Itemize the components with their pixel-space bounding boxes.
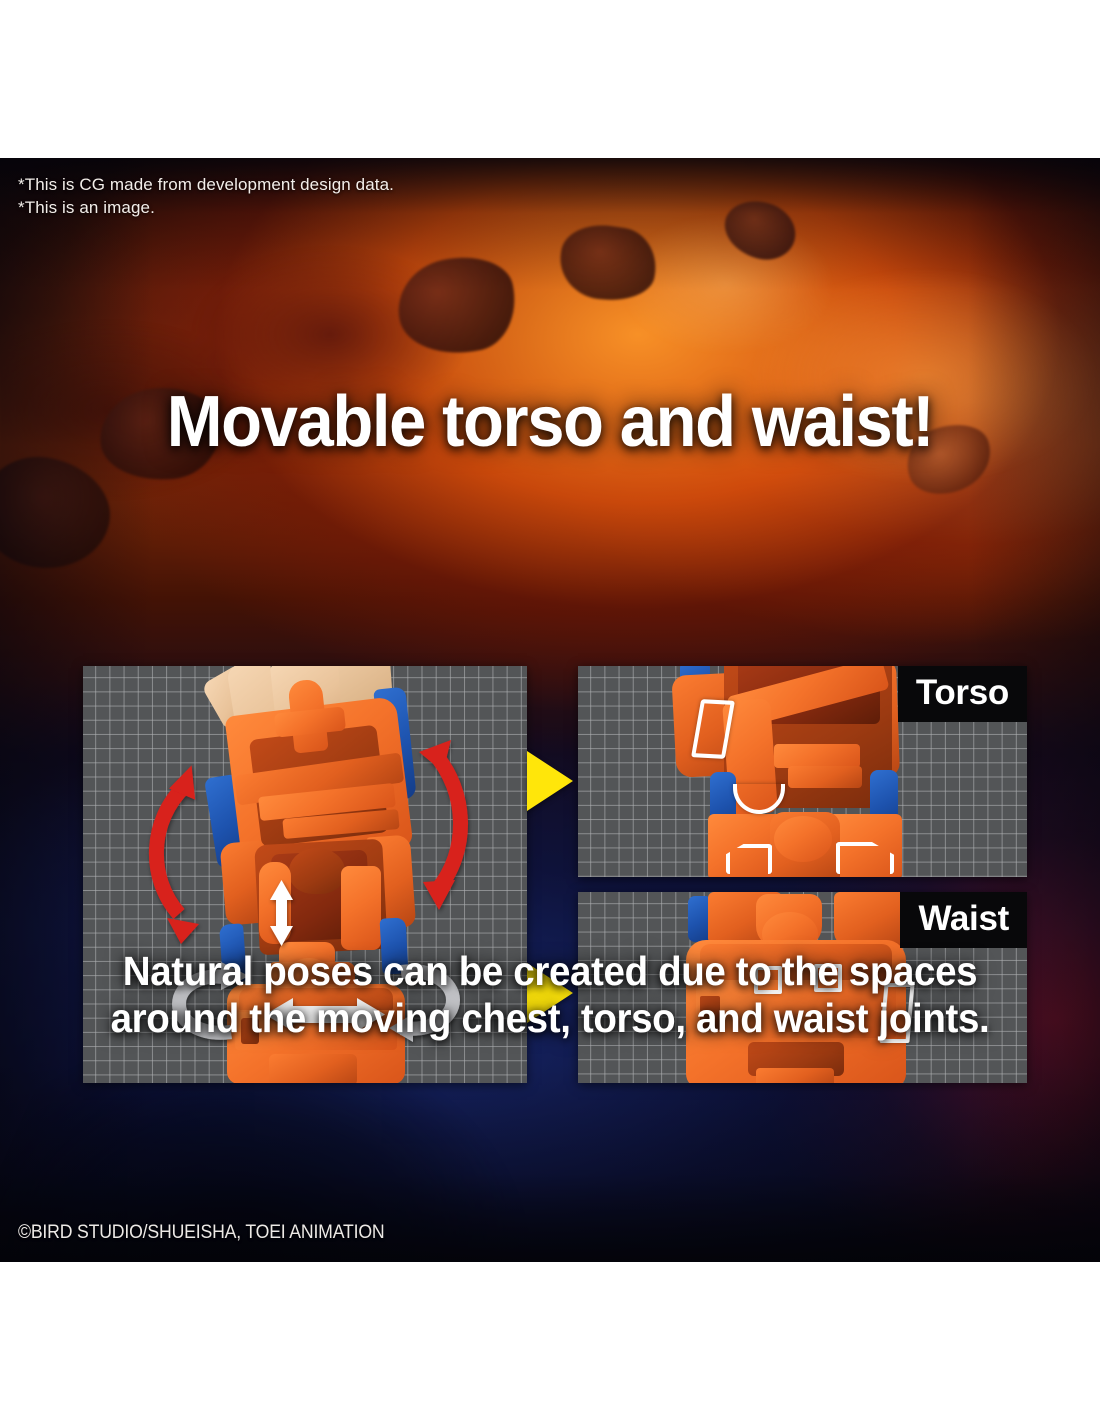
disclaimer-note-2: *This is an image. — [18, 197, 394, 220]
status-badge-torso: Torso — [898, 666, 1027, 722]
feature-caption-line-2: around the moving chest, torso, and wais… — [33, 995, 1067, 1042]
mech-torso-step — [774, 744, 860, 768]
disclaimer-notes: *This is CG made from development design… — [18, 174, 394, 220]
mech-torso-column — [341, 866, 381, 950]
status-badge-waist: Waist — [900, 892, 1027, 948]
page-root: *This is CG made from development design… — [0, 0, 1100, 1422]
mech-torso-step — [788, 766, 862, 788]
page-title: Movable torso and waist! — [39, 386, 1062, 458]
mech-torso-disc — [289, 848, 345, 894]
feature-caption-line-1: Natural poses can be created due to the … — [33, 948, 1067, 995]
promotional-image: *This is CG made from development design… — [0, 158, 1100, 1262]
yellow-arrow-to-torso-icon — [527, 751, 573, 811]
mech-torso-underside — [834, 892, 906, 946]
mech-torso-column — [259, 862, 291, 944]
mech-pelvis-lower — [269, 1054, 357, 1083]
disclaimer-note-1: *This is CG made from development design… — [18, 174, 394, 197]
torso-detail-panel: Torso — [578, 666, 1027, 877]
feature-caption: Natural poses can be created due to the … — [33, 948, 1067, 1041]
mech-waist-ball-joint — [774, 816, 832, 862]
mech-pelvis-lower — [756, 1068, 834, 1083]
copyright-notice: ©BIRD STUDIO/SHUEISHA, TOEI ANIMATION — [18, 1222, 384, 1244]
